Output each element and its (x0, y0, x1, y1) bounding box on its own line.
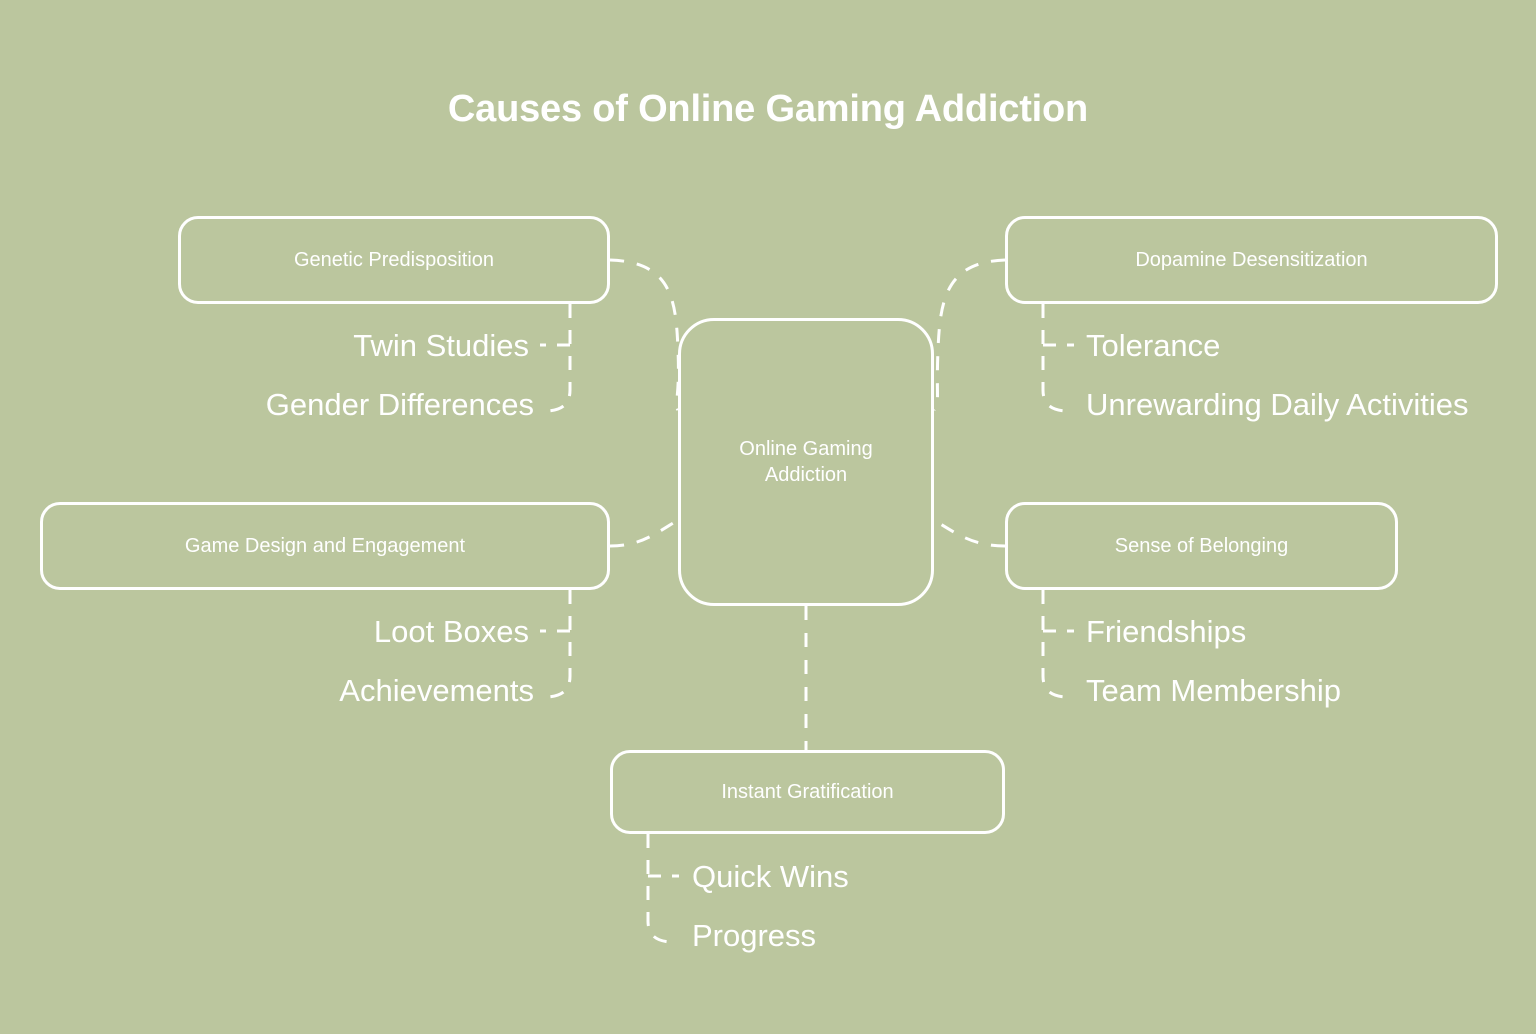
connector-dopamine-spine (1043, 304, 1065, 411)
leaf-gender-differences[interactable]: Gender Differences (0, 389, 534, 420)
leaf-loot-boxes[interactable]: Loot Boxes (0, 616, 529, 647)
mindmap-canvas: Causes of Online Gaming Addiction (0, 0, 1536, 1034)
leaf-unrewarding-daily-activities[interactable]: Unrewarding Daily Activities (1086, 389, 1468, 420)
leaf-progress[interactable]: Progress (692, 920, 816, 951)
connector-center-belonging (934, 520, 1005, 546)
connector-genetic-spine (548, 304, 570, 411)
node-online-gaming-addiction[interactable]: Online Gaming Addiction (678, 318, 934, 606)
page-title: Causes of Online Gaming Addiction (0, 88, 1536, 131)
node-instant-label: Instant Gratification (721, 779, 893, 805)
node-dopamine-label: Dopamine Desensitization (1135, 247, 1367, 273)
connector-instant-spine (648, 834, 670, 942)
node-gamedesign-label: Game Design and Engagement (185, 533, 465, 559)
node-genetic-predisposition[interactable]: Genetic Predisposition (178, 216, 610, 304)
leaf-achievements[interactable]: Achievements (0, 675, 534, 706)
leaf-twin-studies[interactable]: Twin Studies (0, 330, 529, 361)
leaf-quick-wins[interactable]: Quick Wins (692, 861, 849, 892)
leaf-tolerance[interactable]: Tolerance (1086, 330, 1220, 361)
connector-center-gamedesign (610, 520, 678, 546)
node-instant-gratification[interactable]: Instant Gratification (610, 750, 1005, 834)
connector-center-genetic (610, 260, 678, 410)
node-dopamine-desensitization[interactable]: Dopamine Desensitization (1005, 216, 1498, 304)
leaf-friendships[interactable]: Friendships (1086, 616, 1246, 647)
connector-center-dopamine (934, 260, 1005, 410)
node-genetic-label: Genetic Predisposition (294, 247, 494, 273)
node-game-design-and-engagement[interactable]: Game Design and Engagement (40, 502, 610, 590)
connector-gamedesign-spine (548, 590, 570, 697)
connector-belonging-spine (1043, 590, 1065, 697)
node-center-label: Online Gaming Addiction (721, 436, 891, 488)
node-sense-of-belonging[interactable]: Sense of Belonging (1005, 502, 1398, 590)
node-belonging-label: Sense of Belonging (1115, 533, 1288, 559)
leaf-team-membership[interactable]: Team Membership (1086, 675, 1341, 706)
